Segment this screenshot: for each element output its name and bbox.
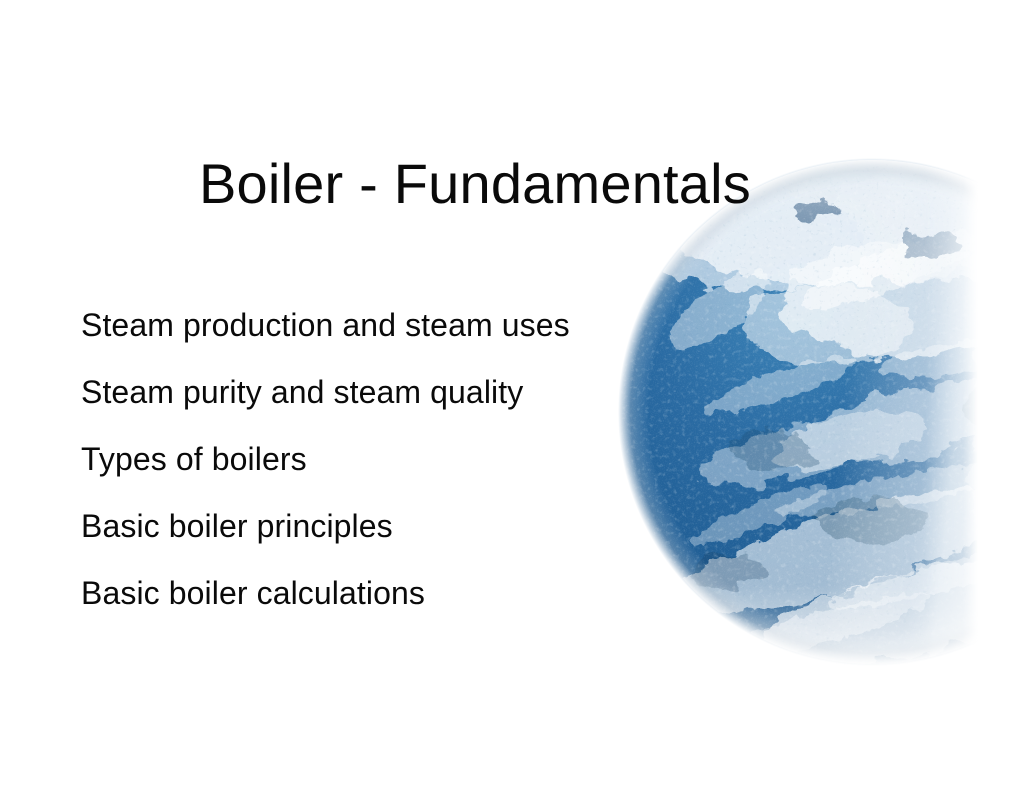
list-item: Steam production and steam uses (81, 292, 570, 359)
page-title: Boiler - Fundamentals (0, 155, 950, 214)
earth-globe-figure (600, 150, 1024, 680)
earth-globe-clip (600, 150, 978, 680)
list-item: Basic boiler calculations (81, 560, 570, 627)
list-item: Basic boiler principles (81, 493, 570, 560)
earth-globe-icon (600, 150, 978, 680)
topic-list: Steam production and steam uses Steam pu… (81, 292, 570, 627)
list-item: Types of boilers (81, 426, 570, 493)
list-item: Steam purity and steam quality (81, 359, 570, 426)
slide-canvas: Boiler - Fundamentals Steam production a… (0, 0, 1024, 791)
